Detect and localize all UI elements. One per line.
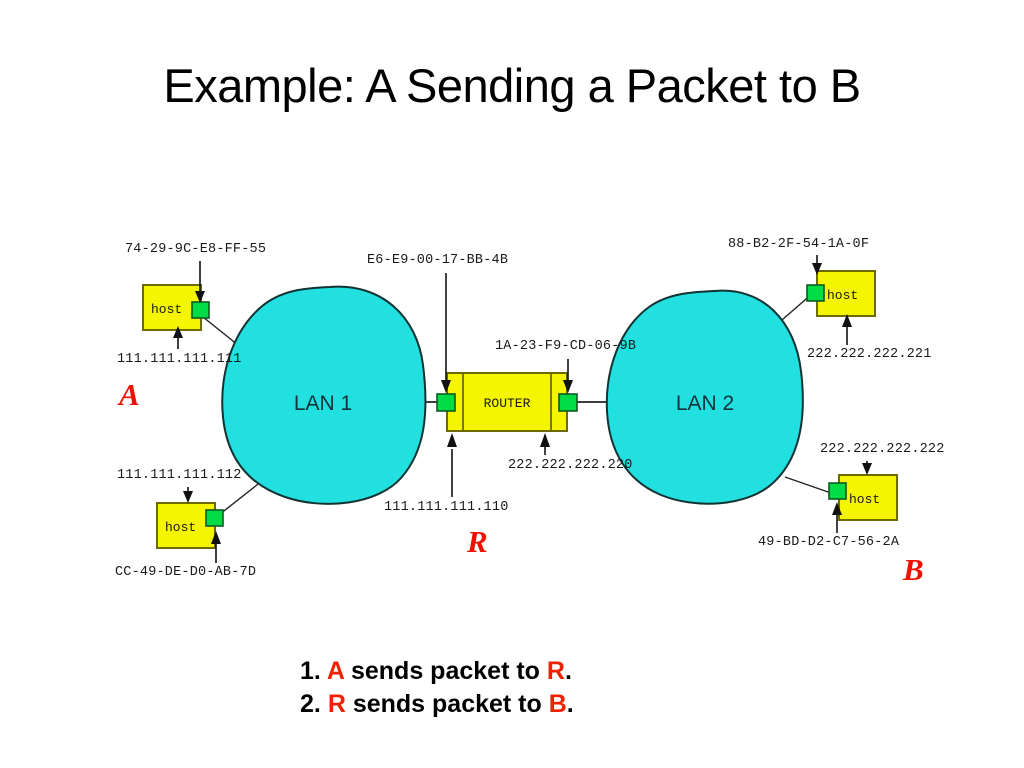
steps-list: 1. A sends packet to R. 2. R sends packe… (300, 655, 574, 721)
host-lan2-upper-ip-label: 222.222.222.221 (807, 347, 932, 362)
host-lan1-lower-mac-label: CC-49-DE-D0-AB-7D (115, 565, 256, 580)
step-1-number: 1. (300, 657, 321, 685)
host-lan2-upper-mac-label: 88-B2-2F-54-1A-0F (728, 237, 869, 252)
host-a-mac-label: 74-29-9C-E8-FF-55 (125, 242, 266, 257)
marker-r: R (466, 524, 488, 559)
host-b-label: host (849, 492, 880, 507)
router-left-ip-arrow-icon (447, 433, 457, 447)
lan2-label: LAN 2 (676, 392, 734, 415)
step-1-text: sends packet to (344, 657, 547, 685)
router-label: ROUTER (484, 396, 531, 411)
step-1-actor: A (327, 657, 344, 685)
host-lan1-lower-label: host (165, 520, 196, 535)
router-left-ip-label: 111.111.111.110 (384, 500, 509, 515)
host-b-nic-icon (829, 483, 846, 499)
cloud-lan1[interactable]: LAN 1 (222, 287, 425, 504)
page-title: Example: A Sending a Packet to B (0, 58, 1024, 113)
host-lan2-upper-label: host (827, 288, 858, 303)
host-a-nic-icon (192, 302, 209, 318)
host-a-label: host (151, 302, 182, 317)
lan1-label: LAN 1 (294, 392, 352, 415)
host-lan1-lower-ip-arrow-icon (183, 491, 193, 503)
network-diagram: LAN 1 LAN 2 host 74-29-9C-E8-FF-55 111.1… (95, 225, 955, 605)
host-lan2-upper-node[interactable]: host (807, 271, 875, 316)
step-2: 2. R sends packet to B. (300, 688, 574, 721)
step-1-period: . (565, 657, 572, 685)
slide-canvas: Example: A Sending a Packet to B LAN 1 L… (0, 0, 1024, 768)
router-right-ip-label: 222.222.222.220 (508, 458, 633, 473)
router-right-ip-arrow-icon (540, 433, 550, 447)
router-left-mac-label: E6-E9-00-17-BB-4B (367, 253, 508, 268)
step-2-text: sends packet to (346, 690, 549, 718)
host-lan1-lower-ip-label: 111.111.111.112 (117, 468, 242, 483)
marker-a: A (117, 377, 140, 412)
host-b-ip-arrow-icon (862, 463, 872, 475)
step-2-target: B (549, 690, 567, 718)
host-lan1-lower-nic-icon (206, 510, 223, 526)
step-2-actor: R (328, 690, 346, 718)
host-a-ip-label: 111.111.111.111 (117, 352, 242, 367)
step-2-period: . (567, 690, 574, 718)
step-2-number: 2. (300, 690, 321, 718)
router-right-nic-icon (559, 394, 577, 411)
host-b-ip-label: 222.222.222.222 (820, 442, 945, 457)
host-lan2-upper-nic-icon (807, 285, 824, 301)
host-b-mac-label: 49-BD-D2-C7-56-2A (758, 535, 900, 550)
step-1-target: R (547, 657, 565, 685)
marker-b: B (902, 552, 924, 587)
cloud-lan2[interactable]: LAN 2 (607, 291, 803, 504)
router-right-mac-label: 1A-23-F9-CD-06-9B (495, 339, 636, 354)
step-1: 1. A sends packet to R. (300, 655, 574, 688)
link-lan2-to-host-b (785, 477, 831, 493)
router-left-nic-icon (437, 394, 455, 411)
router-node[interactable]: ROUTER (437, 373, 577, 431)
